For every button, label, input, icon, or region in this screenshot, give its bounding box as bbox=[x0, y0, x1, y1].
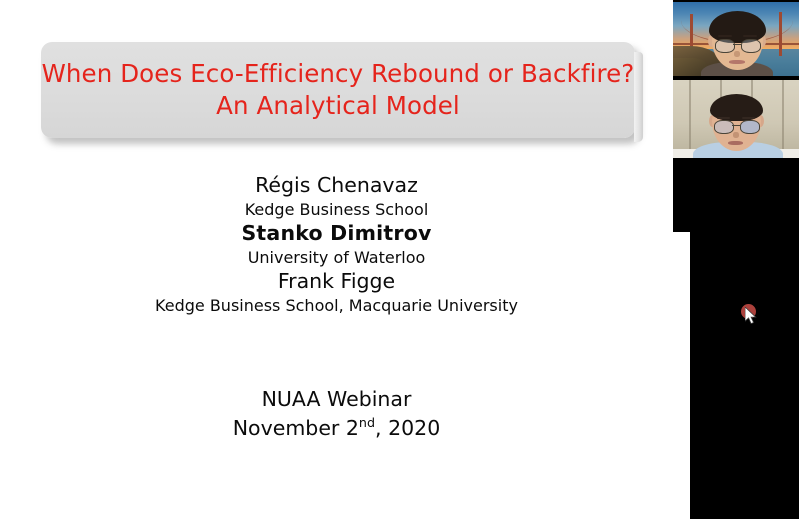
presentation-slide: When Does Eco-Efficiency Rebound or Back… bbox=[0, 0, 673, 519]
slide-title-line-1: When Does Eco-Efficiency Rebound or Back… bbox=[42, 58, 635, 90]
participant-1-glasses-lens-right bbox=[741, 39, 761, 53]
participant-2-brow-left bbox=[717, 117, 730, 119]
author-name-2: Stanko Dimitrov bbox=[0, 220, 673, 247]
panel-left-gap bbox=[673, 232, 690, 519]
video-tile-2[interactable] bbox=[673, 80, 799, 158]
author-affiliation-1: Kedge Business School bbox=[0, 199, 673, 220]
participant-2-glasses-bridge bbox=[732, 125, 740, 126]
venue-date-monthday: November 2 bbox=[233, 416, 359, 440]
video-tile-2-participant bbox=[673, 80, 799, 158]
author-affiliation-2: University of Waterloo bbox=[0, 247, 673, 268]
venue-date-year: , 2020 bbox=[375, 416, 440, 440]
participant-2-mouth bbox=[728, 141, 743, 145]
title-block-edge-sliver bbox=[634, 52, 643, 142]
participant-2-glasses-lens-right bbox=[740, 120, 760, 134]
venue-date: November 2nd, 2020 bbox=[0, 414, 673, 443]
participant-1-glasses-lens-left bbox=[715, 39, 735, 53]
participant-1-glasses-bridge bbox=[733, 44, 741, 45]
slide-title-block: When Does Eco-Efficiency Rebound or Back… bbox=[41, 42, 635, 138]
venue-block: NUAA Webinar November 2nd, 2020 bbox=[0, 385, 673, 442]
video-tile-1-participant bbox=[673, 2, 799, 76]
slide-title-line-2: An Analytical Model bbox=[216, 90, 460, 122]
screen-root: When Does Eco-Efficiency Rebound or Back… bbox=[0, 0, 799, 519]
venue-date-ordinal: nd bbox=[359, 415, 375, 430]
participant-1-hair bbox=[709, 11, 766, 43]
participant-2-nose bbox=[733, 132, 739, 138]
mouse-cursor bbox=[737, 301, 763, 327]
participant-1-mouth bbox=[729, 60, 745, 64]
video-panel-empty-area bbox=[690, 232, 799, 519]
author-affiliation-3: Kedge Business School, Macquarie Univers… bbox=[0, 295, 673, 316]
participant-1-brow-right bbox=[743, 35, 757, 37]
cursor-arrow-icon bbox=[745, 307, 758, 325]
author-name-1: Régis Chenavaz bbox=[0, 172, 673, 199]
author-name-3: Frank Figge bbox=[0, 268, 673, 295]
participant-2-glasses-lens-left bbox=[714, 120, 734, 134]
participant-1-nose bbox=[734, 51, 740, 57]
video-tile-1[interactable] bbox=[673, 2, 799, 76]
participant-1-brow-left bbox=[718, 35, 732, 37]
author-list: Régis Chenavaz Kedge Business School Sta… bbox=[0, 172, 673, 316]
participant-2-brow-right bbox=[742, 117, 755, 119]
venue-event-name: NUAA Webinar bbox=[0, 385, 673, 414]
